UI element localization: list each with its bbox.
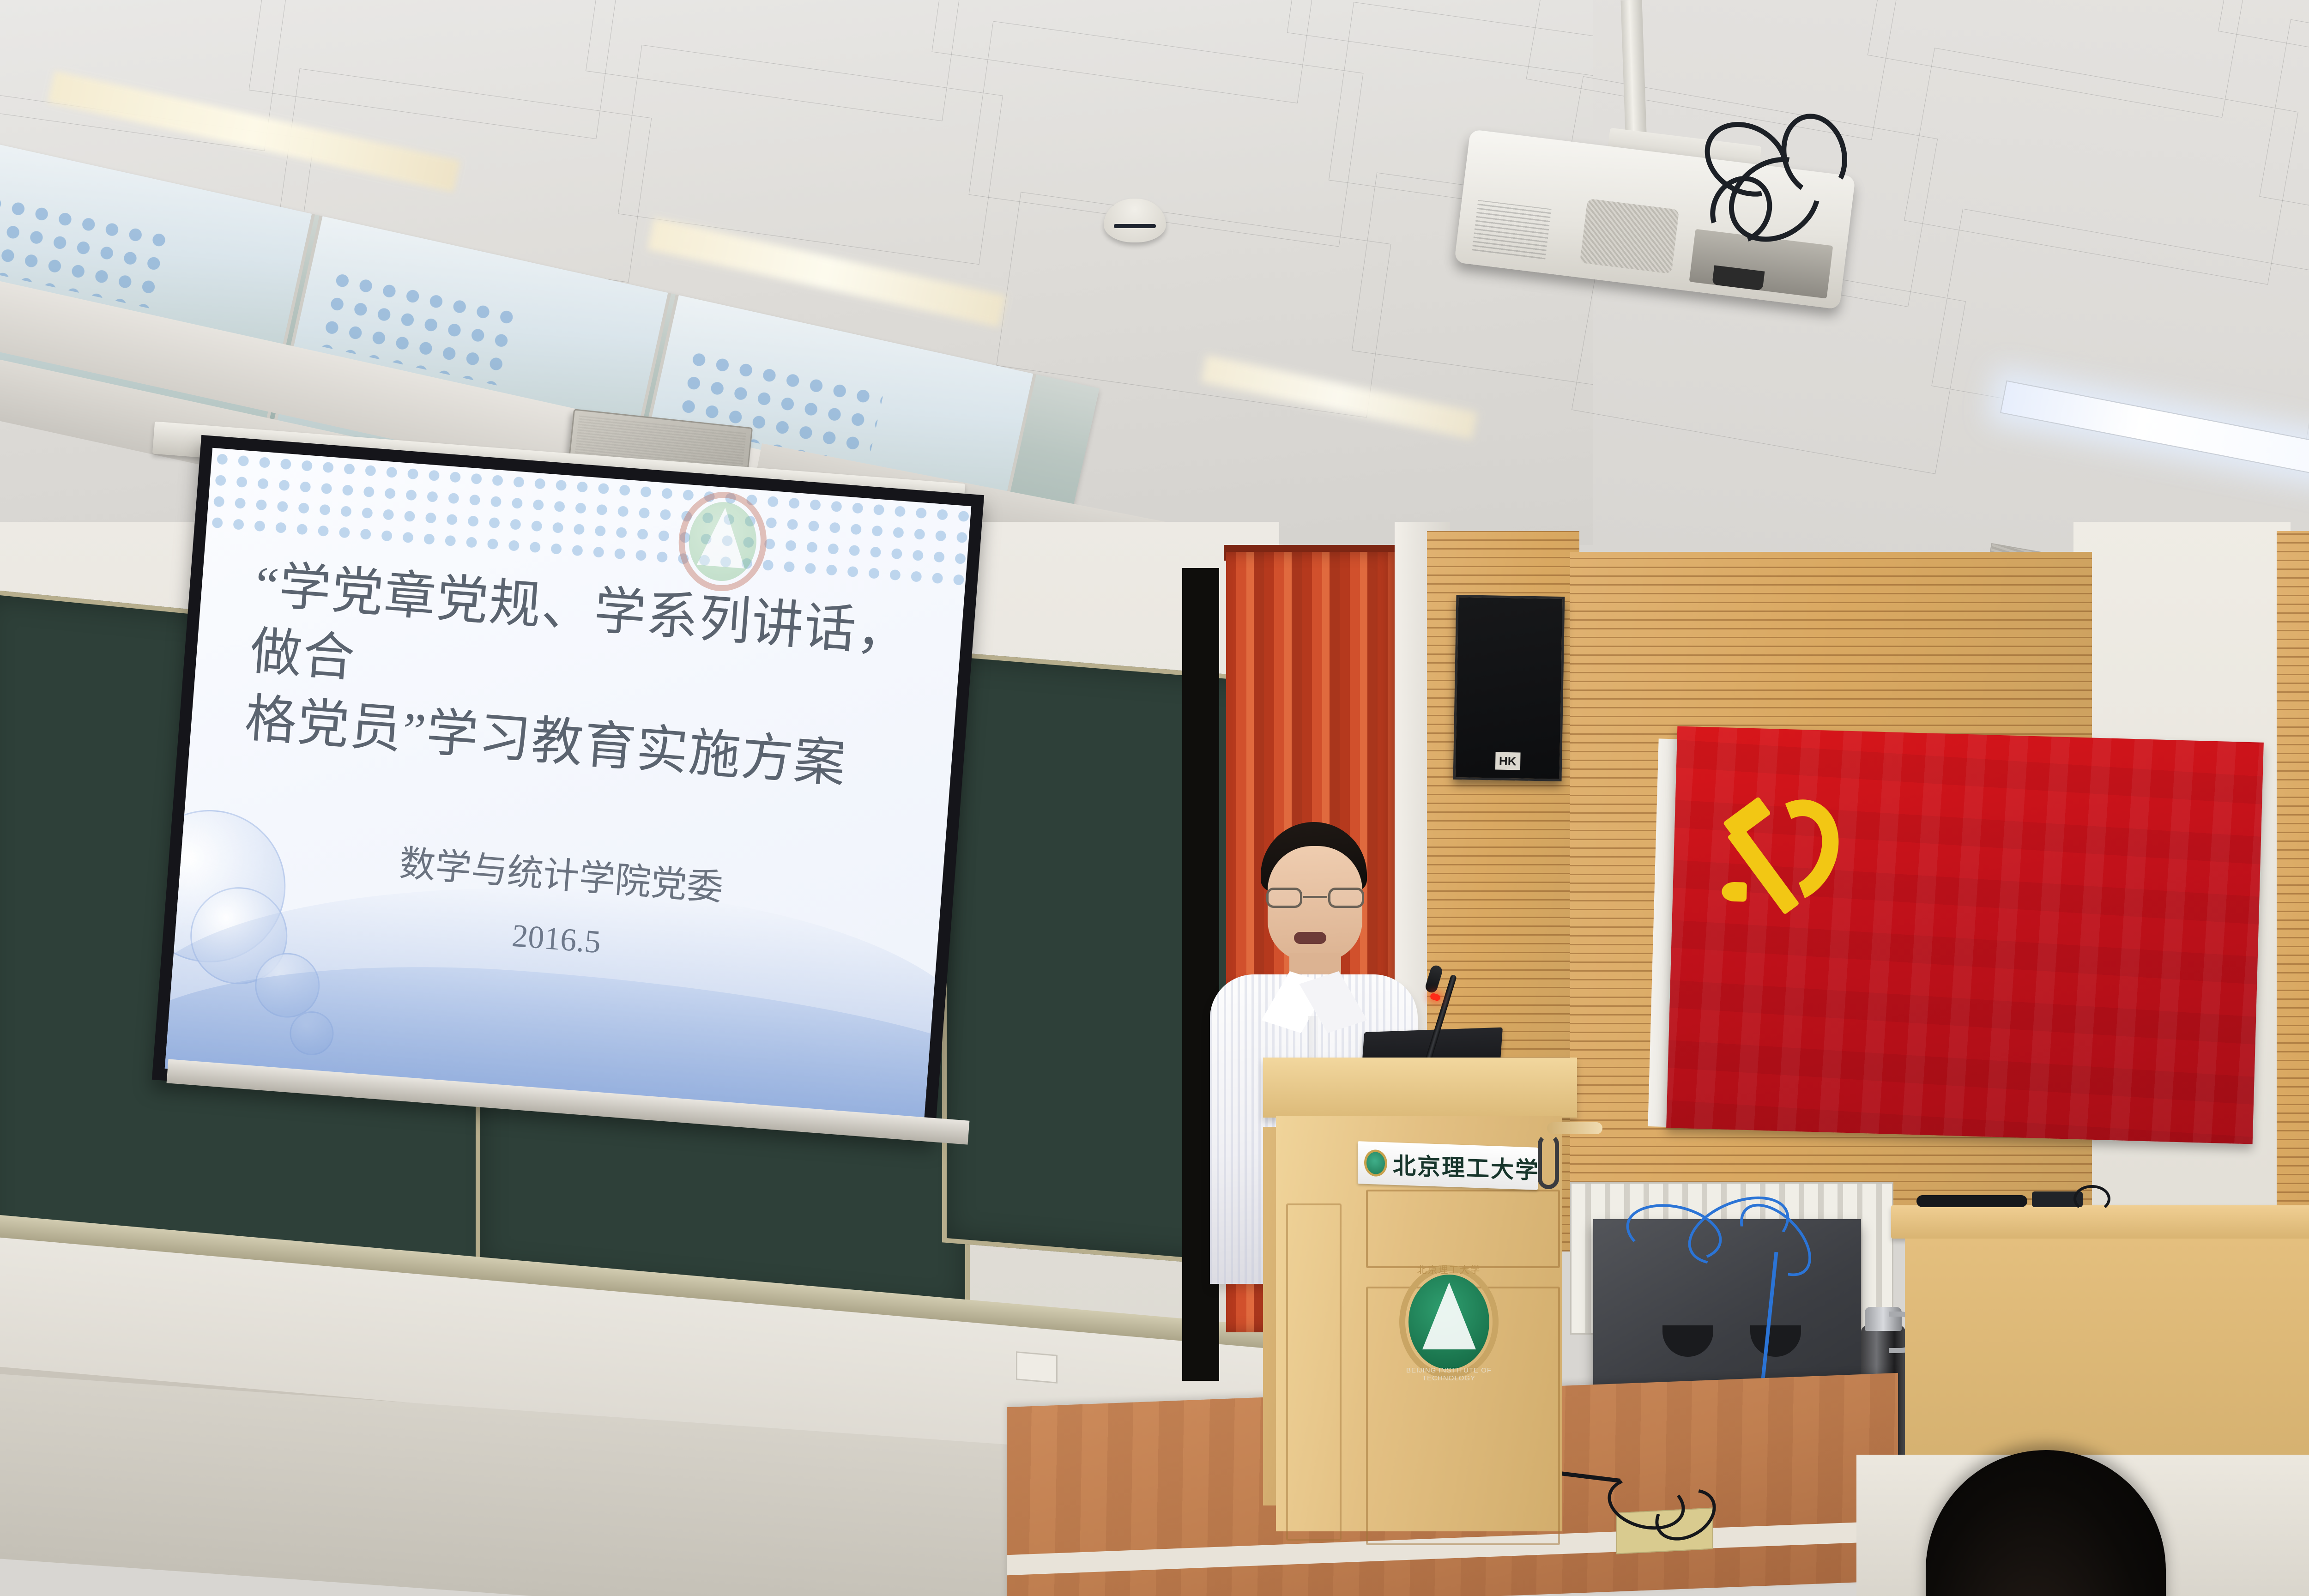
cable-hook <box>1538 1134 1559 1189</box>
projection-screen: “学党章党规、学系列讲话，做合 格党员”学习教育实施方案 数学与统计学院党委 2… <box>165 448 972 1127</box>
hammer-and-sickle-icon <box>1719 796 1861 933</box>
emblem-chinese-text: 北京理工大学 <box>1399 1263 1499 1276</box>
presenter-mouth <box>1294 932 1326 944</box>
emblem-english-text: BEIJING INSTITUTE OF TECHNOLOGY <box>1399 1366 1499 1382</box>
podium-desktop <box>1263 1058 1577 1118</box>
projection-screen-frame: “学党章党规、学系列讲话，做合 格党员”学习教育实施方案 数学与统计学院党委 2… <box>152 435 984 1140</box>
eyeglasses-icon <box>1266 888 1364 908</box>
lecture-hall-photo: “学党章党规、学系列讲话，做合 格党员”学习教育实施方案 数学与统计学院党委 2… <box>0 0 2309 1596</box>
slide-title: “学党章党规、学系列讲话，做合 格党员”学习教育实施方案 <box>242 551 925 804</box>
table-cables <box>1916 1187 2115 1219</box>
bit-emblem-icon: 北京理工大学 BEIJING INSTITUTE OF TECHNOLOGY <box>1399 1265 1499 1378</box>
speaker-brand-badge: HK <box>1495 752 1520 770</box>
network-cables <box>1612 1196 1852 1316</box>
bit-logo-icon <box>675 489 770 594</box>
cpc-flag <box>1666 726 2264 1144</box>
podium-nameplate: 北京理工大学 <box>1358 1141 1538 1190</box>
wall-mounted-speaker: HK <box>1453 595 1565 781</box>
podium-nameplate-text: 北京理工大学 <box>1393 1147 1540 1185</box>
wall-power-outlet[interactable] <box>1016 1351 1058 1384</box>
podium-handle[interactable] <box>1547 1122 1602 1134</box>
bit-logo-icon <box>1364 1149 1387 1177</box>
projector-cables <box>1674 104 1905 278</box>
acoustic-wood-panel <box>2277 531 2309 1307</box>
podium: 北京理工大学 北京理工大学 BEIJING INSTITUTE OF TECHN… <box>1263 1058 1577 1529</box>
